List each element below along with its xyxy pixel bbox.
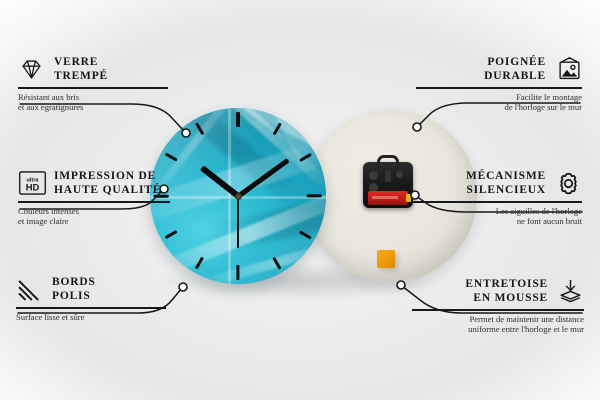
callout-subtitle: Surface lisse et sûre (16, 312, 166, 323)
callout-subtitle: Permet de maintenir une distance uniform… (412, 314, 584, 335)
hanger-loop-icon (377, 155, 399, 169)
callout-title-line1: POIGNÉE (487, 56, 546, 68)
callout-poignee-durable[interactable]: POIGNÉE DURABLE Facilite le montage de l… (416, 56, 582, 113)
clock-tick (236, 265, 239, 280)
battery (368, 191, 408, 205)
svg-text:HD: HD (26, 183, 40, 193)
callout-divider (18, 87, 168, 89)
callout-divider (412, 201, 582, 203)
callout-title-line2: EN MOUSSE (473, 292, 548, 304)
callout-subtitle: Les aiguilles de l'horloge ne font aucun… (412, 206, 582, 227)
diamond-icon (18, 56, 45, 83)
callout-title-line2: DURABLE (484, 70, 546, 82)
infographic-canvas: VERRE TREMPÉ Résistant aux bris et aux é… (0, 0, 600, 400)
callout-title-line1: VERRE (54, 56, 98, 68)
callout-title-line1: ENTRETOISE (465, 278, 548, 290)
callout-title-line2: TREMPÉ (54, 70, 108, 82)
callout-subtitle: Couleurs intenses et image claire (18, 206, 170, 227)
mechanism-switch (385, 170, 391, 182)
mechanism-dial (369, 171, 378, 180)
clock-front-view (150, 108, 326, 284)
callout-divider (18, 201, 170, 203)
callout-title-line2: POLIS (52, 290, 91, 302)
callout-bords-polis[interactable]: BORDS POLIS Surface lisse et sûre (16, 276, 166, 322)
callout-title-line1: IMPRESSION DE (54, 170, 156, 182)
polished-edges-icon (16, 276, 43, 303)
battery-terminal (406, 194, 411, 202)
callout-verre-trempe[interactable]: VERRE TREMPÉ Résistant aux bris et aux é… (18, 56, 168, 113)
picture-hanger-icon (555, 56, 582, 83)
callout-mecanisme-silencieux[interactable]: MÉCANISME SILENCIEUX Les aiguilles de l'… (412, 170, 582, 227)
foam-spacer-pad (377, 250, 395, 268)
callout-impression-haute-qualite[interactable]: ultra HD IMPRESSION DE HAUTE QUALITÉ Cou… (18, 170, 170, 227)
callout-entretoise-en-mousse[interactable]: ENTRETOISE EN MOUSSE Permet de maintenir… (412, 278, 584, 335)
gear-icon (555, 170, 582, 197)
callout-title-line2: HAUTE QUALITÉ (54, 184, 161, 196)
callout-divider (416, 87, 582, 89)
clock-mechanism (363, 162, 413, 208)
callout-divider (16, 307, 166, 309)
foam-spacer-icon (557, 278, 584, 305)
clock-tick (236, 112, 239, 127)
second-hand (237, 196, 239, 248)
callout-title-line2: SILENCIEUX (466, 184, 546, 196)
callout-divider (412, 309, 584, 311)
callout-title-line1: BORDS (52, 276, 96, 288)
ultra-hd-badge-icon: ultra HD (18, 170, 45, 197)
hand-cap (235, 193, 242, 200)
callout-subtitle: Facilite le montage de l'horloge sur le … (416, 92, 582, 113)
callout-title-line1: MÉCANISME (466, 170, 546, 182)
callout-subtitle: Résistant aux bris et aux égratignures (18, 92, 168, 113)
mechanism-screw (396, 171, 403, 178)
clock-tick (307, 194, 322, 197)
battery-band (372, 196, 398, 199)
